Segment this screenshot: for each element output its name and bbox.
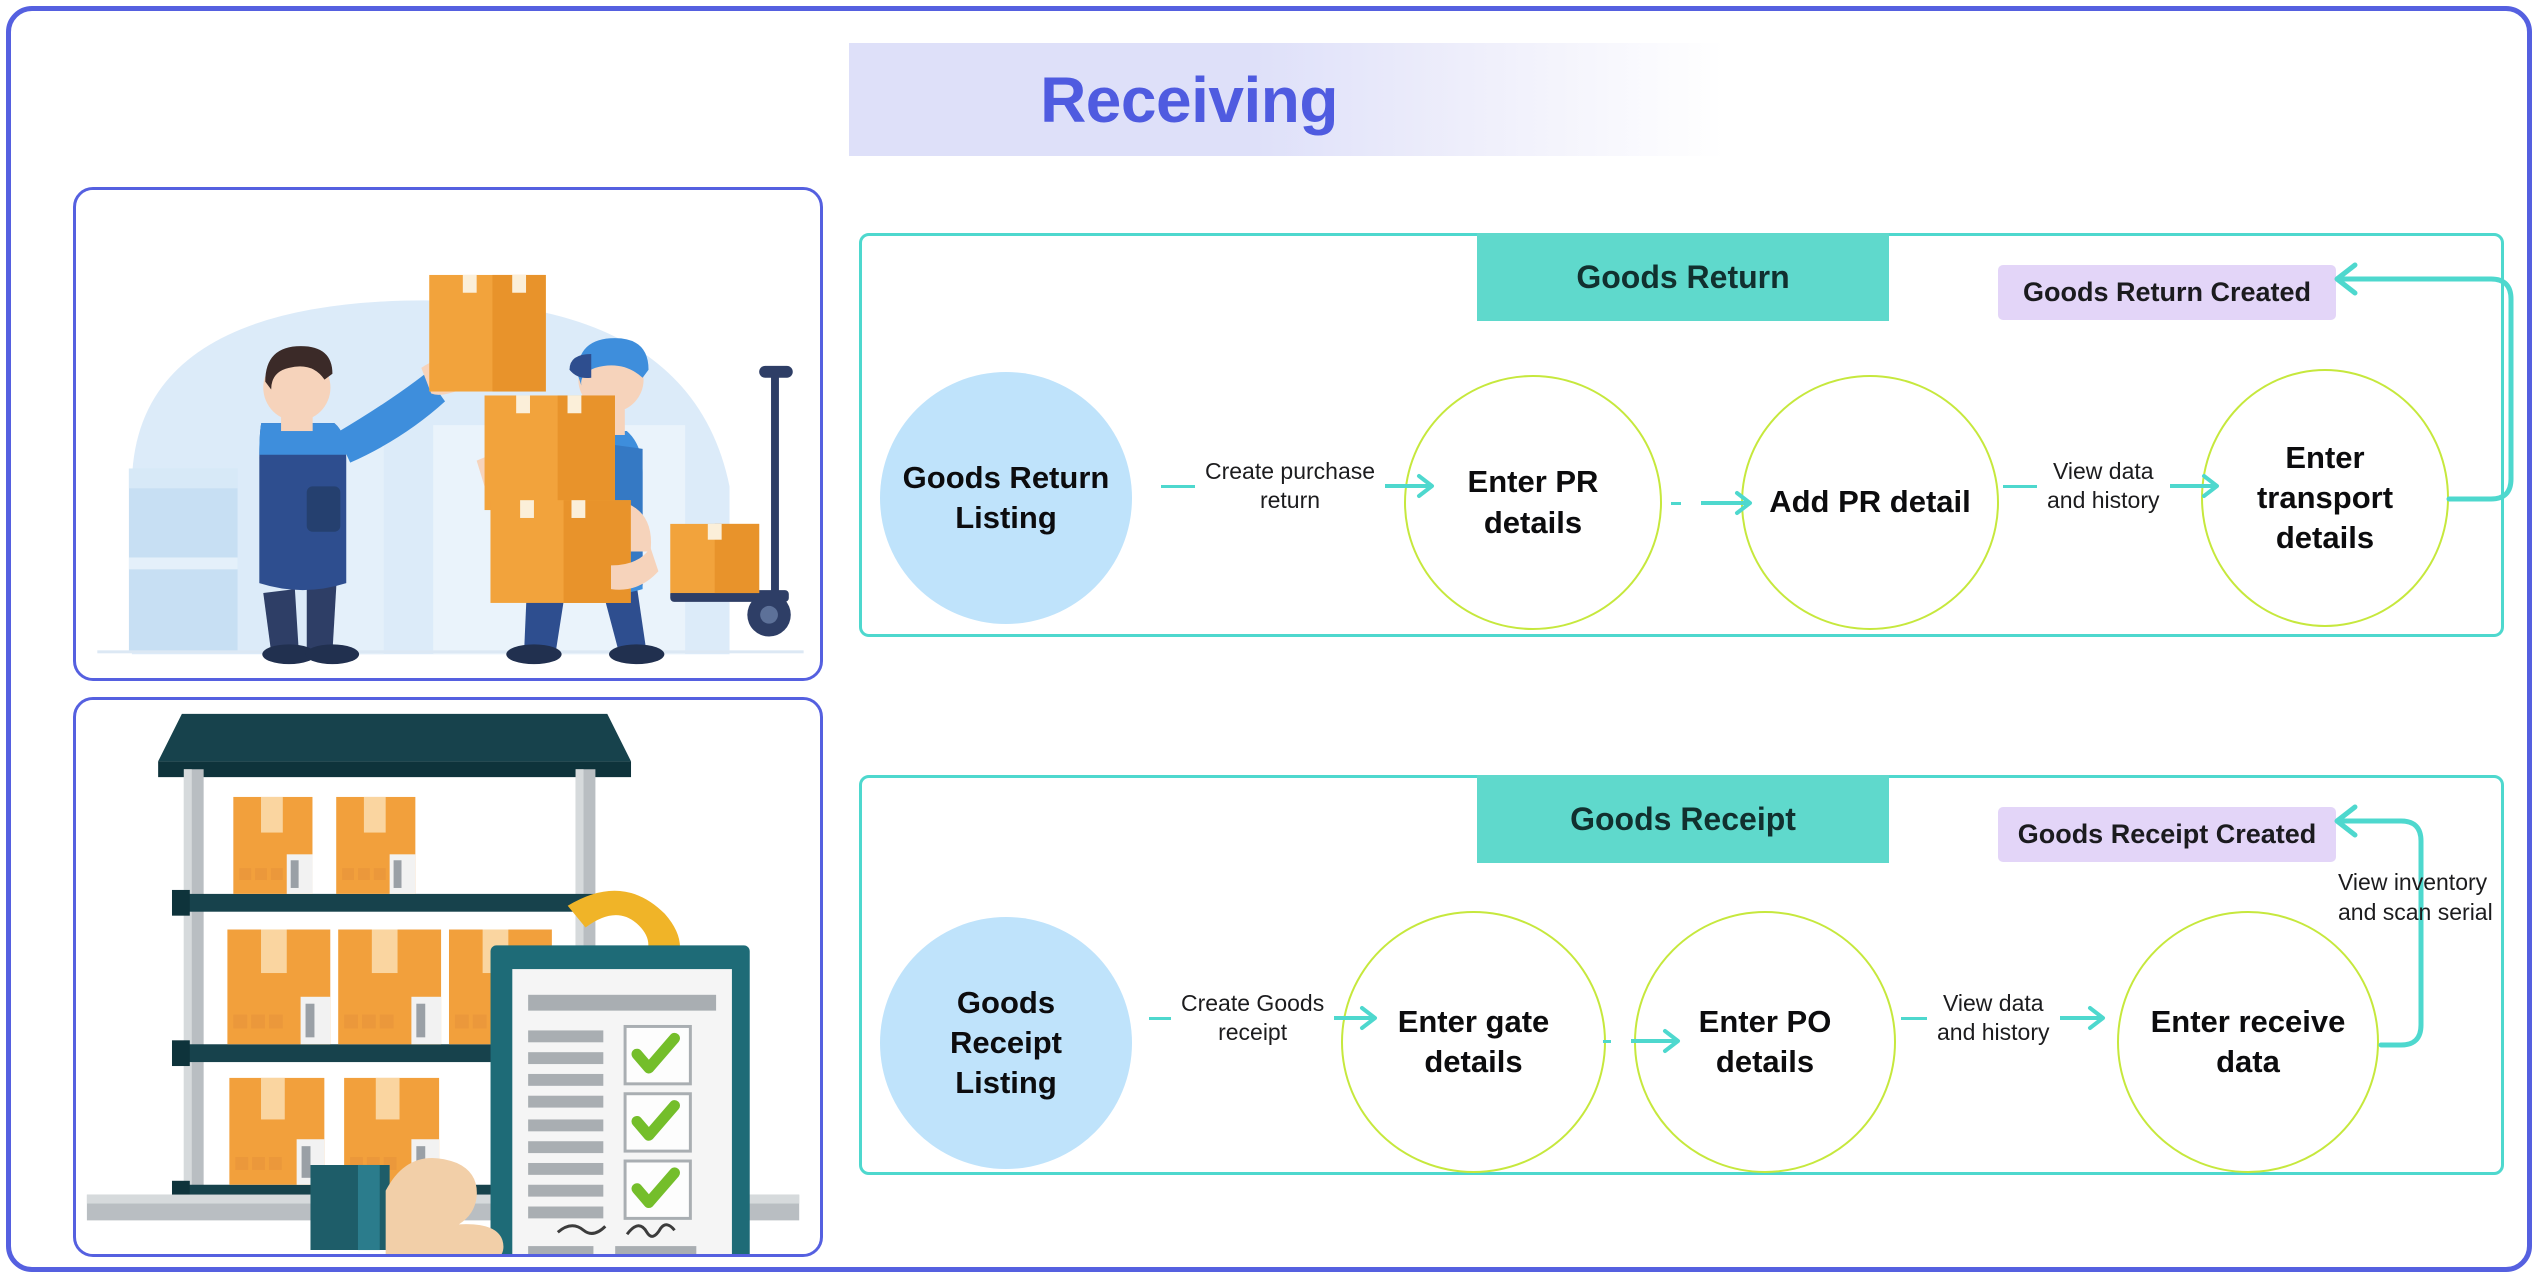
node-goods-return-listing[interactable]: Goods Return Listing (880, 372, 1132, 624)
connector-pr-to-add (1671, 473, 1759, 533)
stage-header-goods-return: Goods Return (1477, 233, 1889, 321)
stage-header-goods-receipt: Goods Receipt (1477, 775, 1889, 863)
node-goods-receipt-listing[interactable]: Goods Receipt Listing (880, 917, 1132, 1169)
return-loop-goods-return (2311, 271, 2541, 591)
connector-line (1671, 502, 1681, 505)
connector-create-purchase-return: Create purchase return (1161, 456, 1441, 516)
arrow-right-icon (1701, 490, 1759, 516)
connector-view-data-and-history-receipt: View data and history (1901, 988, 2112, 1048)
connector-create-goods-receipt: Create Goods receipt (1149, 988, 1384, 1048)
illustration-card-workers (73, 187, 823, 681)
return-loop-goods-receipt (2311, 813, 2481, 1133)
connector-label: View data and history (1927, 989, 2060, 1048)
node-add-pr-detail[interactable]: Add PR detail (1741, 375, 1999, 630)
arrow-right-icon (2170, 473, 2226, 499)
connector-gate-to-po (1603, 1011, 1687, 1071)
node-enter-pr-details[interactable]: Enter PR details (1404, 375, 1662, 630)
connector-label: View data and history (2037, 457, 2170, 516)
arrow-right-icon (1385, 473, 1441, 499)
illustration-card-checklist (73, 697, 823, 1257)
return-loop-label-view-inventory: View inventory and scan serial (2338, 868, 2544, 928)
connector-line (1161, 485, 1195, 488)
arrow-right-icon (2060, 1005, 2112, 1031)
warehouse-workers-illustration (76, 190, 820, 678)
connector-view-data-and-history-return: View data and history (2003, 456, 2226, 516)
arrow-right-icon (1631, 1028, 1687, 1054)
connector-line (2003, 485, 2037, 488)
page-title: Receiving (849, 43, 1529, 156)
page-frame: Receiving (6, 6, 2532, 1272)
arrow-right-icon (1334, 1005, 1384, 1031)
connector-line (1149, 1017, 1171, 1020)
status-badge-goods-return-created: Goods Return Created (1998, 265, 2336, 320)
status-badge-goods-receipt-created: Goods Receipt Created (1998, 807, 2336, 862)
connector-line (1603, 1040, 1611, 1043)
connector-line (1901, 1017, 1927, 1020)
connector-label: Create purchase return (1195, 457, 1385, 516)
warehouse-checklist-illustration (76, 700, 820, 1254)
connector-label: Create Goods receipt (1171, 989, 1334, 1048)
